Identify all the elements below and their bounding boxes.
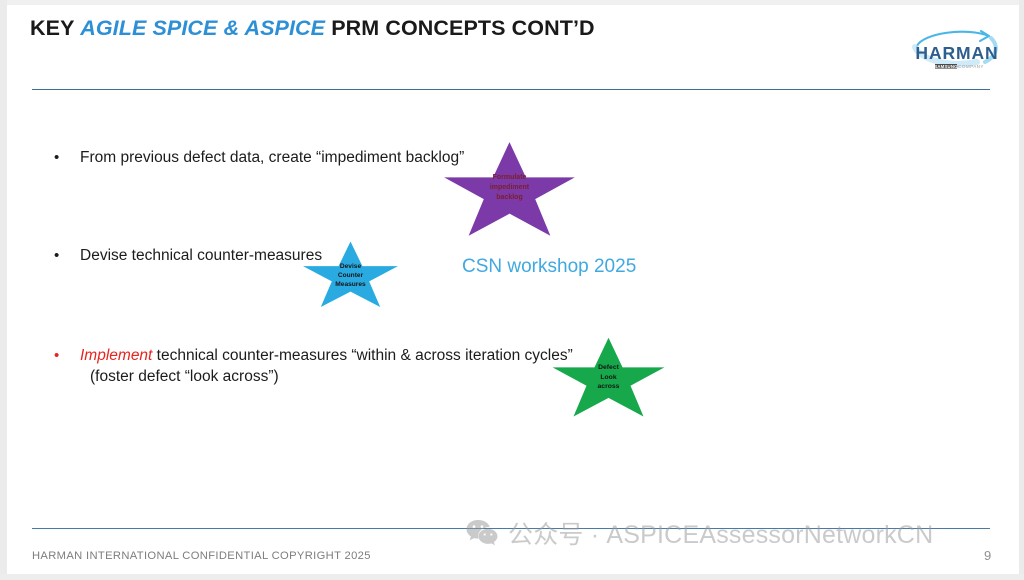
slide-edge-bottom — [0, 574, 1024, 580]
bullet-emphasis: Implement — [80, 347, 152, 364]
star-label: Defect Look across — [549, 363, 668, 392]
bullet-marker: • — [54, 245, 68, 266]
star-shape-devise-counter-measures: Devise Counter Measures — [300, 240, 401, 310]
svg-text:HARMAN: HARMAN — [915, 43, 998, 63]
bullet-text: technical counter-measures “within & acr… — [152, 347, 572, 364]
bullet-marker: • — [54, 345, 68, 366]
page-number: 9 — [984, 548, 991, 563]
harman-logo: HARMAN A COMPANY SAMSUNG — [905, 28, 1009, 72]
page-title: KEY AGILE SPICE & ASPICE PRM CONCEPTS CO… — [30, 16, 595, 41]
bullet-marker: • — [54, 147, 68, 168]
bullet-item-3: • Implement technical counter-measures “… — [54, 345, 573, 387]
slide-edge-left — [0, 0, 7, 580]
confidentiality-notice: HARMAN INTERNATIONAL CONFIDENTIAL COPYRI… — [32, 550, 371, 562]
presentation-slide: KEY AGILE SPICE & ASPICE PRM CONCEPTS CO… — [0, 0, 1024, 580]
slide-edge-top — [0, 0, 1024, 5]
bullet-text-line: Implement technical counter-measures “wi… — [80, 345, 573, 366]
bullet-subtext: (foster defect “look across”) — [90, 366, 573, 387]
star-label: Devise Counter Measures — [300, 262, 401, 289]
star-label: Formulate impediment backlog — [440, 173, 579, 203]
bullet-text: Devise technical counter-measures — [80, 245, 322, 266]
wechat-icon — [466, 518, 498, 548]
svg-text:SAMSUNG: SAMSUNG — [934, 64, 958, 69]
title-divider — [32, 89, 990, 90]
slide-edge-right — [1019, 0, 1024, 580]
bullet-text: From previous defect data, create “imped… — [80, 147, 464, 168]
bullet-item-1: • From previous defect data, create “imp… — [54, 147, 464, 168]
title-prefix: KEY — [30, 16, 80, 40]
watermark-text: 公众号 · ASPICEAssessorNetworkCN — [508, 515, 933, 551]
svg-text:COMPANY: COMPANY — [958, 64, 984, 69]
title-highlight: AGILE SPICE & ASPICE — [80, 16, 325, 40]
bullet-item-2: • Devise technical counter-measures — [54, 245, 322, 266]
star-shape-defect-look-across: Defect Look across — [549, 336, 668, 420]
star-shape-formulate-impediment-backlog: Formulate impediment backlog — [440, 140, 579, 240]
csn-workshop-label: CSN workshop 2025 — [462, 256, 636, 278]
watermark: 公众号 · ASPICEAssessorNetworkCN — [466, 515, 933, 551]
title-suffix: PRM CONCEPTS CONT’D — [325, 16, 595, 40]
